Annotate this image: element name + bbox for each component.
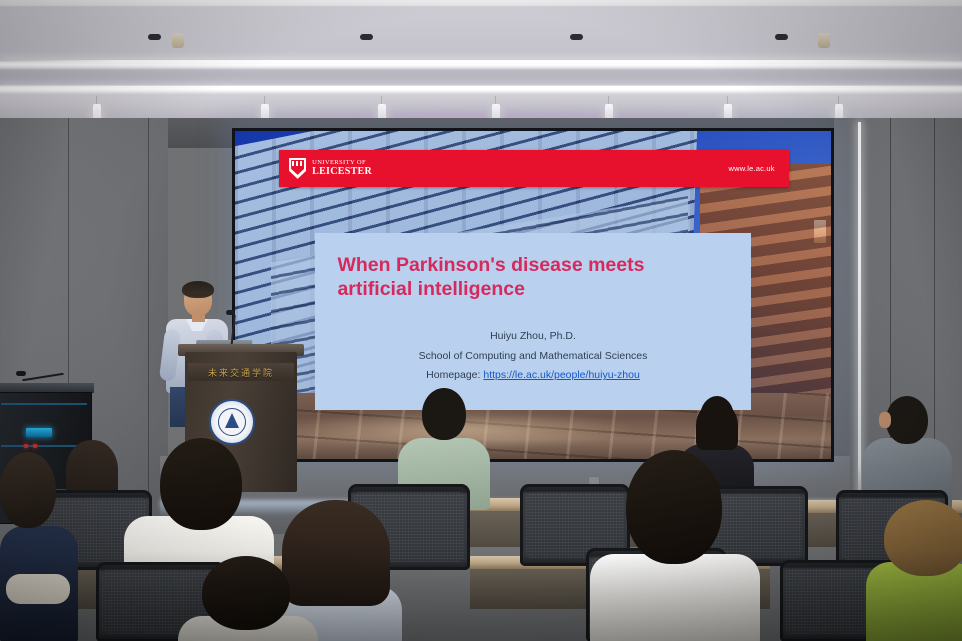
emblem-inner-mark <box>218 408 246 436</box>
attendee-front-left-woman <box>0 452 78 641</box>
attendee-front-center <box>178 556 318 641</box>
rack-status-led <box>33 444 37 448</box>
podium-nameplate: 未来交通学院 <box>188 363 294 381</box>
lecture-hall-photo: UNIVERSITY OF LEICESTER www.le.ac.uk Whe… <box>0 0 962 641</box>
university-crest-icon <box>289 158 306 179</box>
attendee-head <box>626 450 722 564</box>
slide-presenter-name: Huiyu Zhou, Ph.D. <box>315 327 750 346</box>
ceiling-speaker-icon <box>818 33 830 48</box>
rack-microphone-icon <box>16 371 26 376</box>
ceiling-light-strip-upper <box>0 60 962 63</box>
ceiling-light-strip-lower <box>0 86 962 90</box>
attendee-arm <box>6 574 70 604</box>
attendee-head <box>884 500 962 576</box>
attendee-head <box>886 396 928 444</box>
university-url: www.le.ac.uk <box>729 164 775 173</box>
attendee-hair <box>696 402 738 450</box>
ceiling-speaker-icon <box>172 33 184 48</box>
university-line-2: LEICESTER <box>312 167 372 177</box>
presenter-glasses-icon <box>186 295 210 301</box>
slide-background-lit-window <box>814 220 826 243</box>
slide-text-panel: When Parkinson's disease meets artificia… <box>315 233 750 410</box>
attendee-front-white-tshirt <box>590 450 760 641</box>
attendee-head <box>160 438 242 530</box>
ceiling-sensor-icon <box>775 34 788 40</box>
slide-homepage-link[interactable]: https://le.ac.uk/people/huiyu-zhou <box>483 369 639 381</box>
attendee-ear <box>879 412 891 428</box>
wall-light-strip-vertical <box>858 122 861 522</box>
slide-affiliation: School of Computing and Mathematical Sci… <box>315 347 750 366</box>
podium-microphone-icon <box>226 310 235 315</box>
slide-homepage-row: Homepage: https://le.ac.uk/people/huiyu-… <box>315 366 750 385</box>
slide-title-line-2: artificial intelligence <box>337 277 728 301</box>
crest-bars-icon <box>292 161 303 166</box>
ceiling-sensor-icon <box>148 34 161 40</box>
university-wordmark: UNIVERSITY OF LEICESTER <box>312 160 372 178</box>
attendee-front-green-shirt <box>866 500 962 641</box>
attendee-head <box>0 452 56 528</box>
slide-title-line-1: When Parkinson's disease meets <box>337 253 728 277</box>
rack-status-led <box>24 444 28 448</box>
ceiling-sensor-icon <box>570 34 583 40</box>
slide-homepage-label: Homepage: <box>426 369 480 381</box>
attendee-head <box>202 556 290 630</box>
ceiling-sensor-icon <box>360 34 373 40</box>
slide-header-banner: UNIVERSITY OF LEICESTER www.le.ac.uk <box>279 150 789 187</box>
slide-title: When Parkinson's disease meets artificia… <box>337 253 728 302</box>
attendee-head <box>422 388 466 440</box>
rack-lcd-display <box>26 428 52 437</box>
slide-byline-block: Huiyu Zhou, Ph.D. School of Computing an… <box>315 327 750 385</box>
attendee-torso <box>590 554 760 641</box>
